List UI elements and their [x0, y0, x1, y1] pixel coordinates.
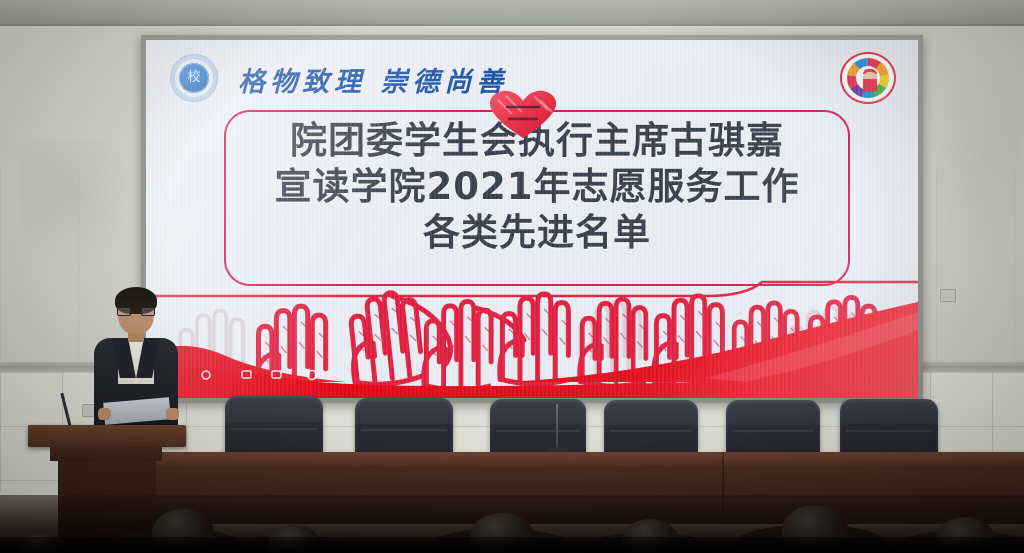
chair: [355, 398, 453, 458]
projection-screen-frame: 校 格物致理 崇德尚善: [141, 35, 923, 403]
podium-top: [28, 425, 186, 447]
table-microphone-stand: [556, 404, 558, 452]
wall-smudge-right: [930, 60, 1020, 260]
heart-icon: [482, 88, 564, 140]
speaker-hand-left: [98, 408, 111, 420]
chair: [726, 400, 820, 458]
chair: [840, 399, 938, 458]
speaker: [88, 290, 184, 440]
wall-smudge-left: [20, 140, 140, 270]
chair: [225, 396, 323, 458]
title-line-3: 各类先进名单: [224, 210, 850, 256]
wall-outlet-right: [940, 289, 956, 302]
projection-screen: 校 格物致理 崇德尚善: [146, 40, 918, 398]
emblem-figure: [863, 72, 877, 92]
speaker-hand-right: [166, 408, 179, 420]
chair: [490, 399, 586, 458]
volunteer-service-emblem-icon: [840, 52, 896, 104]
audience-bottom-shadow: [0, 537, 1024, 553]
title-line-2: 宣读学院2021年志愿服务工作: [224, 164, 850, 210]
motto-calligraphy: 格物致理 崇德尚善: [238, 60, 508, 99]
ceiling: [0, 0, 1024, 26]
raised-hands-illustration: [146, 278, 918, 398]
university-seal-icon: 校: [170, 54, 218, 102]
glasses-icon: [117, 307, 155, 316]
university-seal-glyph: 校: [180, 64, 208, 92]
photo-scene: 校 格物致理 崇德尚善: [0, 0, 1024, 553]
chair: [604, 400, 698, 458]
podium-neck: [50, 447, 162, 461]
